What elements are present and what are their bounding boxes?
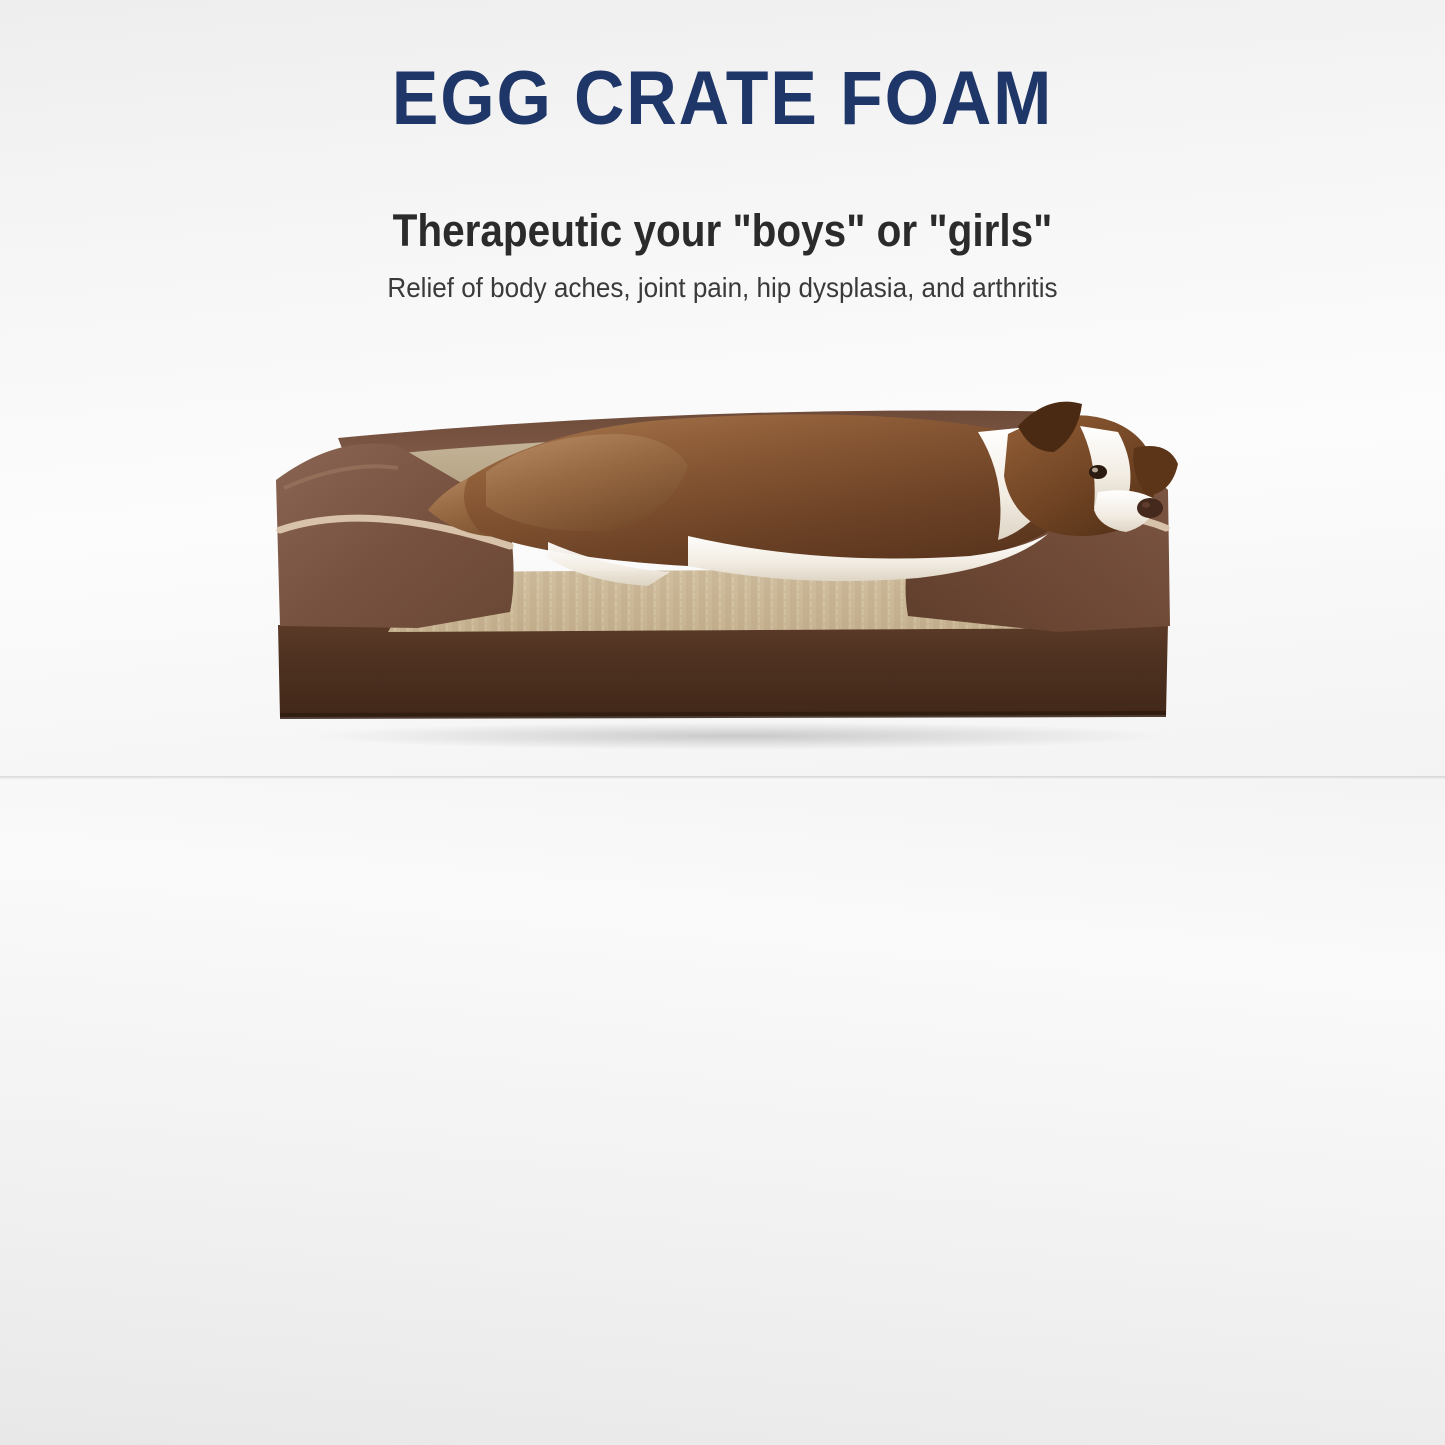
product-photo-dog-bed xyxy=(218,360,1228,750)
bed-base xyxy=(278,622,1168,717)
bottom-panel: INCREASED AIRFLOW xyxy=(0,781,1445,1445)
dog-eye xyxy=(1089,465,1107,479)
product-infographic-page: EGG CRATE FOAM Therapeutic your "boys" o… xyxy=(0,0,1445,1445)
dog-nose xyxy=(1137,498,1163,518)
dog-nostril xyxy=(1142,502,1150,508)
floor-shadow xyxy=(308,722,1168,750)
top-panel: EGG CRATE FOAM Therapeutic your "boys" o… xyxy=(0,0,1445,778)
dog-eye-glint xyxy=(1092,468,1098,473)
page-title: EGG CRATE FOAM xyxy=(58,55,1387,142)
subtitle-therapeutic: Therapeutic your "boys" or "girls" xyxy=(72,205,1373,257)
description-relief: Relief of body aches, joint pain, hip dy… xyxy=(51,272,1395,304)
